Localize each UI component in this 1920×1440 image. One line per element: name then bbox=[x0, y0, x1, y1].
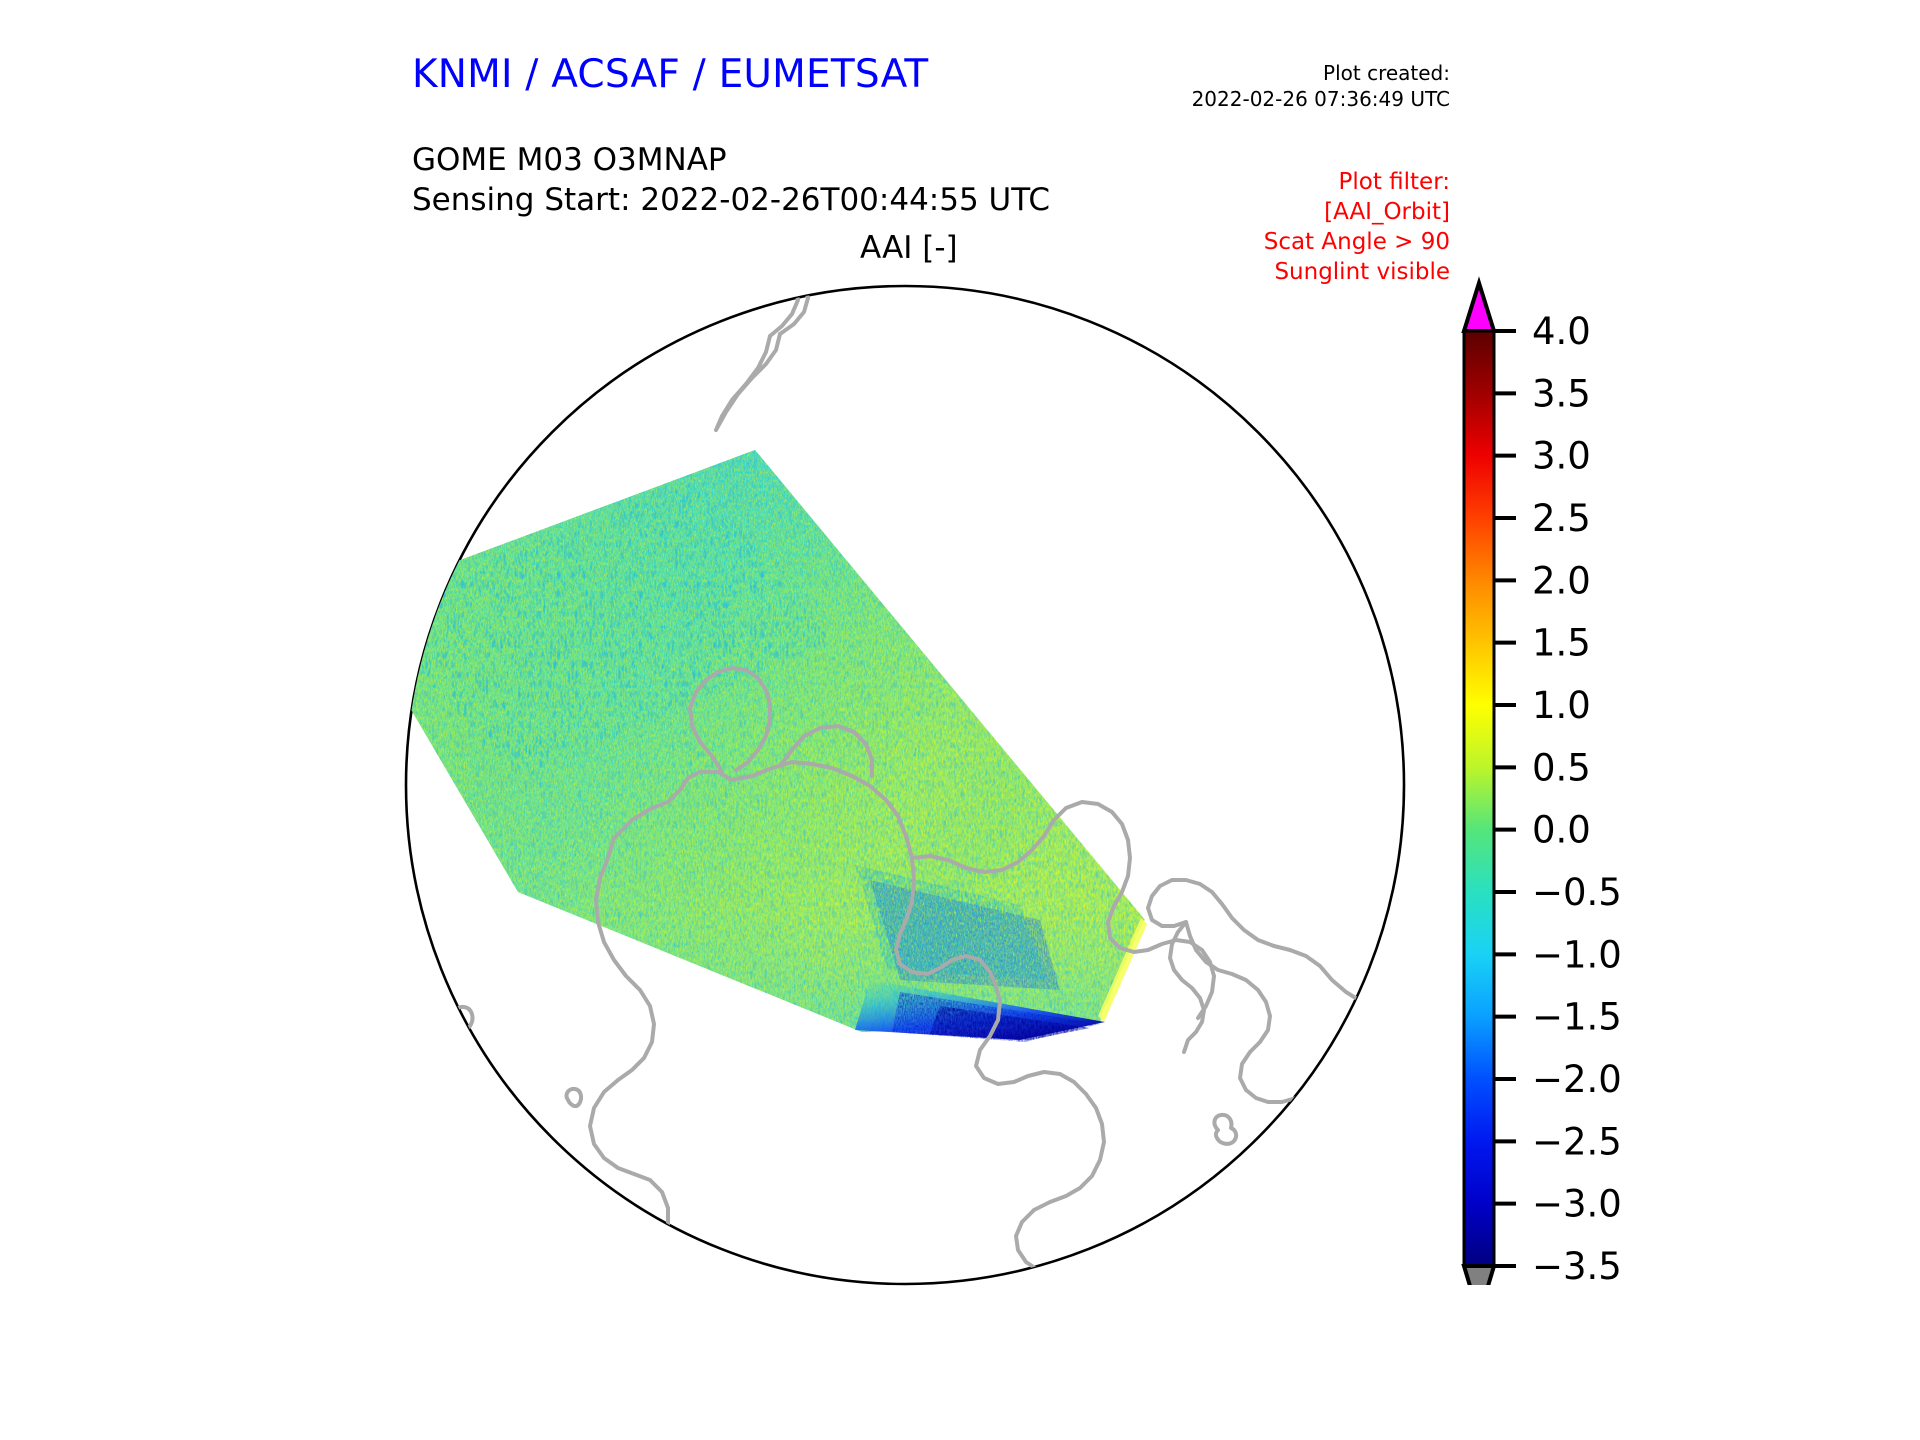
colorbar-tick-label: 2.5 bbox=[1532, 497, 1591, 540]
colorbar-gradient bbox=[1464, 331, 1494, 1266]
colorbar-tick-label: 2.0 bbox=[1532, 559, 1591, 602]
plot-filter-block: Plot filter: [AAI_Orbit] Scat Angle > 90… bbox=[1150, 168, 1450, 288]
sensing-start: Sensing Start: 2022-02-26T00:44:55 UTC bbox=[412, 180, 1050, 220]
colorbar-tick-label: 1.5 bbox=[1532, 622, 1591, 665]
colorbar-tick-label: 3.5 bbox=[1532, 372, 1591, 415]
plot-created-label: Plot created: bbox=[1160, 60, 1450, 86]
colorbar-panel: 4.03.53.02.52.01.51.00.50.0−0.5−1.0−1.5−… bbox=[1440, 275, 1700, 1285]
page-title: AAI [-] bbox=[860, 230, 958, 266]
colorbar-tick-label: 0.0 bbox=[1532, 809, 1591, 852]
plot-filter-title: Plot filter: bbox=[1150, 168, 1450, 198]
plot-created-block: Plot created: 2022-02-26 07:36:49 UTC bbox=[1160, 60, 1450, 113]
colorbar-tick-label: −2.0 bbox=[1532, 1058, 1622, 1101]
colorbar-tick-label: 3.0 bbox=[1532, 435, 1591, 478]
product-name: GOME M03 O3MNAP bbox=[412, 140, 1050, 180]
colorbar-tick-label: 0.5 bbox=[1532, 746, 1591, 789]
colorbar-tick-label: 1.0 bbox=[1532, 684, 1591, 727]
polar-map bbox=[400, 280, 1410, 1290]
colorbar-tick-label: −1.0 bbox=[1532, 933, 1622, 976]
colorbar-tick-label: −0.5 bbox=[1532, 871, 1622, 914]
organisation-title: KNMI / ACSAF / EUMETSAT bbox=[412, 52, 928, 97]
product-info-block: GOME M03 O3MNAP Sensing Start: 2022-02-2… bbox=[412, 140, 1050, 221]
colorbar-tick-label: −2.5 bbox=[1532, 1120, 1622, 1163]
colorbar-tick-label: −1.5 bbox=[1532, 996, 1622, 1039]
plot-filter-line-1: [AAI_Orbit] bbox=[1150, 198, 1450, 228]
australia-fragment bbox=[400, 412, 448, 456]
colorbar-tick-label: −3.0 bbox=[1532, 1183, 1622, 1226]
plot-filter-line-2: Scat Angle > 90 bbox=[1150, 228, 1450, 258]
colorbar-ticks bbox=[1494, 331, 1516, 1266]
plot-created-timestamp: 2022-02-26 07:36:49 UTC bbox=[1160, 86, 1450, 112]
colorbar-tick-label: 4.0 bbox=[1532, 310, 1591, 353]
colorbar: 4.03.53.02.52.01.51.00.50.0−0.5−1.0−1.5−… bbox=[1440, 275, 1700, 1285]
colorbar-over-arrow bbox=[1464, 283, 1494, 331]
colorbar-tick-labels: 4.03.53.02.52.01.51.00.50.0−0.5−1.0−1.5−… bbox=[1532, 310, 1622, 1285]
map-panel bbox=[400, 280, 1410, 1290]
colorbar-tick-label: −3.5 bbox=[1532, 1245, 1622, 1285]
colorbar-under-arrow bbox=[1464, 1266, 1494, 1285]
tasmania bbox=[460, 464, 498, 502]
